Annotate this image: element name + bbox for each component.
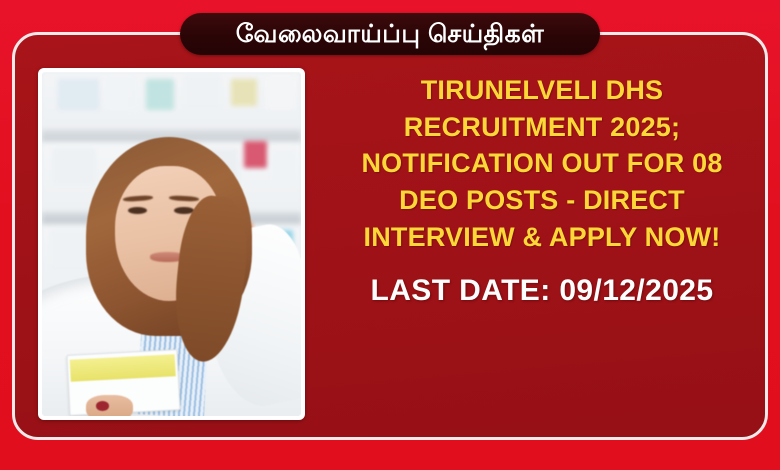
headline-line-5: INTERVIEW & APPLY NOW! [361,219,722,256]
eye-left [128,207,148,214]
page-title: TIRUNELVELI DHS RECRUITMENT 2025; NOTIFI… [355,72,728,256]
hand [86,395,133,416]
shelf-package [58,79,99,110]
photo-card [38,68,305,420]
headline-line-3: NOTIFICATION OUT FOR 08 [361,145,722,182]
last-date-text: LAST DATE: 09/12/2025 [371,274,714,308]
text-column: TIRUNELVELI DHS RECRUITMENT 2025; NOTIFI… [322,72,762,420]
pharmacist-figure [42,148,301,416]
headline-line-4: DEO POSTS - DIRECT [361,182,722,219]
shelf-package [104,75,138,109]
eyebrow-left [123,195,154,202]
shelf-package [265,75,296,109]
banner-title-text: வேலைவாய்ப்பு செய்திகள் [236,22,544,47]
shelf-package [184,75,220,109]
fingernail [96,401,109,410]
eyebrow-right [169,195,200,202]
shelf-package [231,79,257,107]
headline-line-1: TIRUNELVELI DHS [361,72,722,109]
shelf-package [146,79,174,110]
job-notification-poster: வேலைவாய்ப்பு செய்திகள் [0,0,780,470]
pharmacist-photo [42,72,301,416]
tamil-banner-pill: வேலைவாய்ப்பு செய்திகள் [180,13,600,55]
headline-line-2: RECRUITMENT 2025; [361,109,722,146]
